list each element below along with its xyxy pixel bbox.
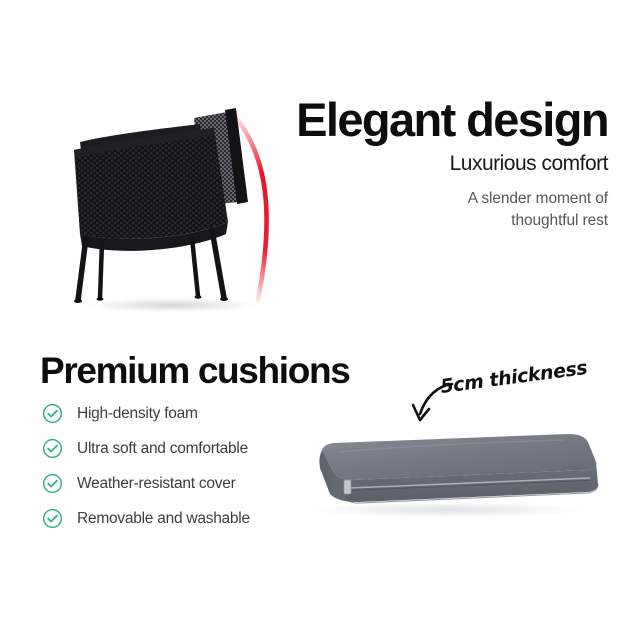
wicker-armchair-side-view [42, 62, 302, 314]
list-item-label: High-density foam [77, 405, 198, 423]
list-item: Weather-resistant cover [42, 466, 292, 501]
callout-label: 5cm thickness [439, 357, 588, 398]
cushion-floor-shadow [313, 502, 583, 518]
body-copy: A slender moment of thoughtful rest [278, 188, 608, 232]
red-contour-accent [238, 120, 267, 300]
check-circle-icon [42, 508, 63, 529]
list-item-label: Weather-resistant cover [77, 475, 236, 493]
page-subtitle: Luxurious comfort [278, 151, 608, 176]
check-circle-icon [42, 403, 63, 424]
body-copy-line-1: A slender moment of [468, 190, 608, 207]
check-circle-icon [42, 438, 63, 459]
page-title: Elegant design [278, 96, 608, 144]
cushion-zipper-pull [344, 480, 351, 494]
feature-list: High-density foam Ultra soft and comfort… [42, 396, 292, 536]
body-copy-line-2: thoughtful rest [511, 212, 608, 229]
section-title: Premium cushions [40, 352, 349, 389]
gray-seat-cushion [278, 418, 608, 518]
list-item: Removable and washable [42, 501, 292, 536]
list-item: Ultra soft and comfortable [42, 431, 292, 466]
check-circle-icon [42, 473, 63, 494]
list-item-label: Ultra soft and comfortable [77, 440, 248, 458]
chair-floor-shadow [86, 298, 258, 312]
product-infographic: Elegant design Luxurious comfort A slend… [0, 0, 640, 640]
list-item: High-density foam [42, 396, 292, 431]
list-item-label: Removable and washable [77, 510, 250, 528]
elegant-design-text-block: Elegant design Luxurious comfort A slend… [278, 96, 608, 232]
